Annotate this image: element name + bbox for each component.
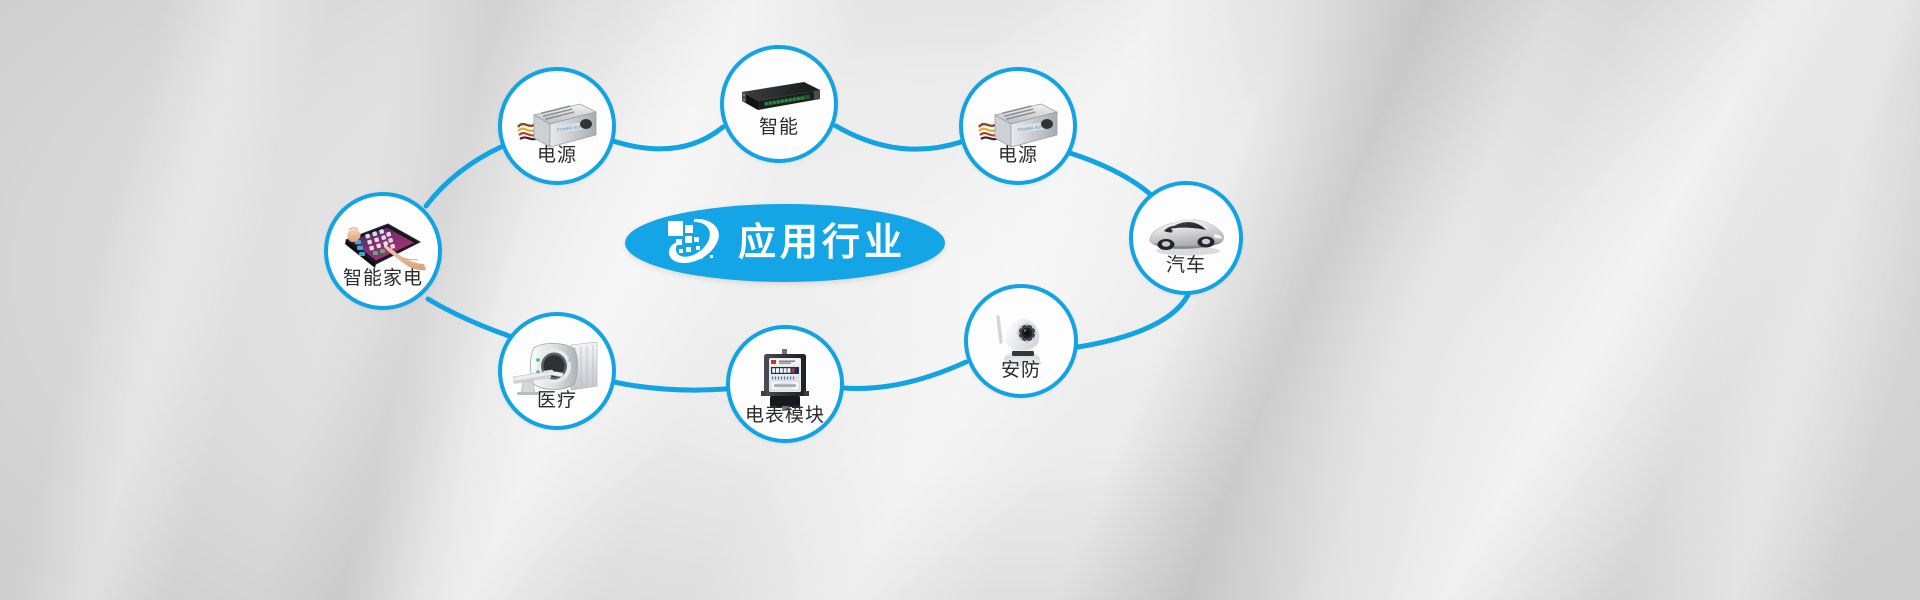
- connection-links: [0, 0, 1920, 600]
- node-label: 电表模块: [745, 406, 825, 425]
- node-label: 汽车: [1166, 256, 1206, 275]
- link-medical-smarthome: [428, 299, 512, 337]
- orbit-pixel-logo-icon: [664, 215, 724, 272]
- link-security-meter: [844, 362, 966, 388]
- node-meter-module[interactable]: 电表模块: [726, 325, 844, 443]
- node-label: 医疗: [537, 391, 577, 410]
- banner-canvas: 应用行业: [0, 0, 1920, 600]
- link-auto-security: [1078, 295, 1188, 347]
- node-label: 安防: [1001, 361, 1041, 380]
- node-security[interactable]: 安防: [964, 284, 1078, 398]
- node-label: 电源: [537, 146, 577, 165]
- link-smart-powerright: [836, 126, 961, 149]
- node-medical[interactable]: 医疗: [498, 312, 616, 430]
- center-badge: 应用行业: [625, 204, 945, 282]
- node-smart[interactable]: 智能: [720, 45, 838, 163]
- node-label: 智能家电: [343, 269, 423, 288]
- center-label: 应用行业: [738, 224, 906, 262]
- link-smarthome-powerleft: [426, 146, 503, 206]
- link-powerright-auto: [1070, 153, 1150, 194]
- node-power-left[interactable]: POWER SUPPLY 电源: [498, 67, 616, 185]
- node-label: 电源: [998, 146, 1038, 165]
- link-meter-medical: [614, 382, 726, 390]
- node-smart-home[interactable]: 智能家电: [324, 192, 442, 310]
- link-powerleft-smart: [613, 127, 723, 149]
- node-label: 智能: [759, 118, 799, 137]
- node-automobile[interactable]: 汽车: [1129, 181, 1243, 295]
- node-power-right[interactable]: POWER SUPPLY 电源: [959, 67, 1077, 185]
- sports-car-icon: [1144, 207, 1228, 262]
